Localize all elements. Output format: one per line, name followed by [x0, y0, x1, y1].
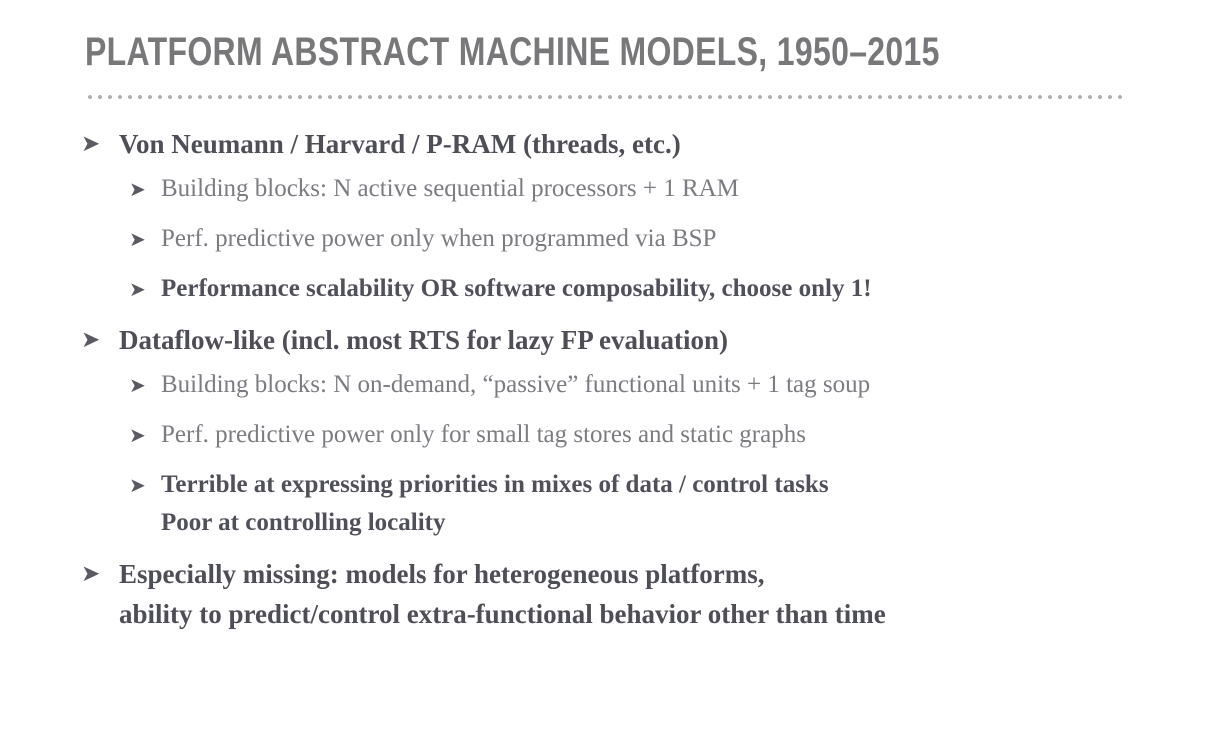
list-item-label: Perf. predictive power only when program… [161, 220, 1206, 258]
dotted-divider [85, 95, 1125, 99]
page-title: PLATFORM ABSTRACT MACHINE MODELS, 1950–2… [85, 28, 917, 76]
list-item-label: Von Neumann / Harvard / P-RAM (threads, … [119, 124, 1206, 164]
arrow-bullet-icon: ➤ [81, 124, 100, 164]
list-item-label: Especially missing: models for heterogen… [119, 554, 1206, 634]
list-item: ➤ Building blocks: N on-demand, “passive… [0, 366, 1206, 404]
list-item-label: Building blocks: N active sequential pro… [161, 170, 1206, 208]
list-item: ➤ Especially missing: models for heterog… [0, 554, 1206, 634]
list-item: ➤ Terrible at expressing priorities in m… [0, 466, 1206, 542]
list-item: ➤ Perf. predictive power only when progr… [0, 220, 1206, 258]
arrow-bullet-icon: ➤ [129, 466, 146, 504]
list-item: ➤ Building blocks: N active sequential p… [0, 170, 1206, 208]
list-item-label: Dataflow-like (incl. most RTS for lazy F… [119, 320, 1206, 360]
arrow-bullet-icon: ➤ [129, 170, 146, 208]
arrow-bullet-icon: ➤ [81, 554, 100, 594]
arrow-bullet-icon: ➤ [81, 320, 100, 360]
list-item-label: Building blocks: N on-demand, “passive” … [161, 366, 1206, 404]
list-item-label: Perf. predictive power only for small ta… [161, 416, 1206, 454]
list-item: ➤ Perf. predictive power only for small … [0, 416, 1206, 454]
arrow-bullet-icon: ➤ [129, 270, 146, 308]
bullet-list: ➤ Von Neumann / Harvard / P-RAM (threads… [0, 124, 1206, 640]
list-item: ➤ Von Neumann / Harvard / P-RAM (threads… [0, 124, 1206, 164]
arrow-bullet-icon: ➤ [129, 366, 146, 404]
list-item: ➤ Performance scalability OR software co… [0, 270, 1206, 308]
arrow-bullet-icon: ➤ [129, 416, 146, 454]
list-item-label: Performance scalability OR software comp… [161, 270, 1206, 308]
slide: PLATFORM ABSTRACT MACHINE MODELS, 1950–2… [0, 0, 1206, 734]
list-item: ➤ Dataflow-like (incl. most RTS for lazy… [0, 320, 1206, 360]
list-item-label: Terrible at expressing priorities in mix… [161, 466, 1206, 542]
arrow-bullet-icon: ➤ [129, 220, 146, 258]
